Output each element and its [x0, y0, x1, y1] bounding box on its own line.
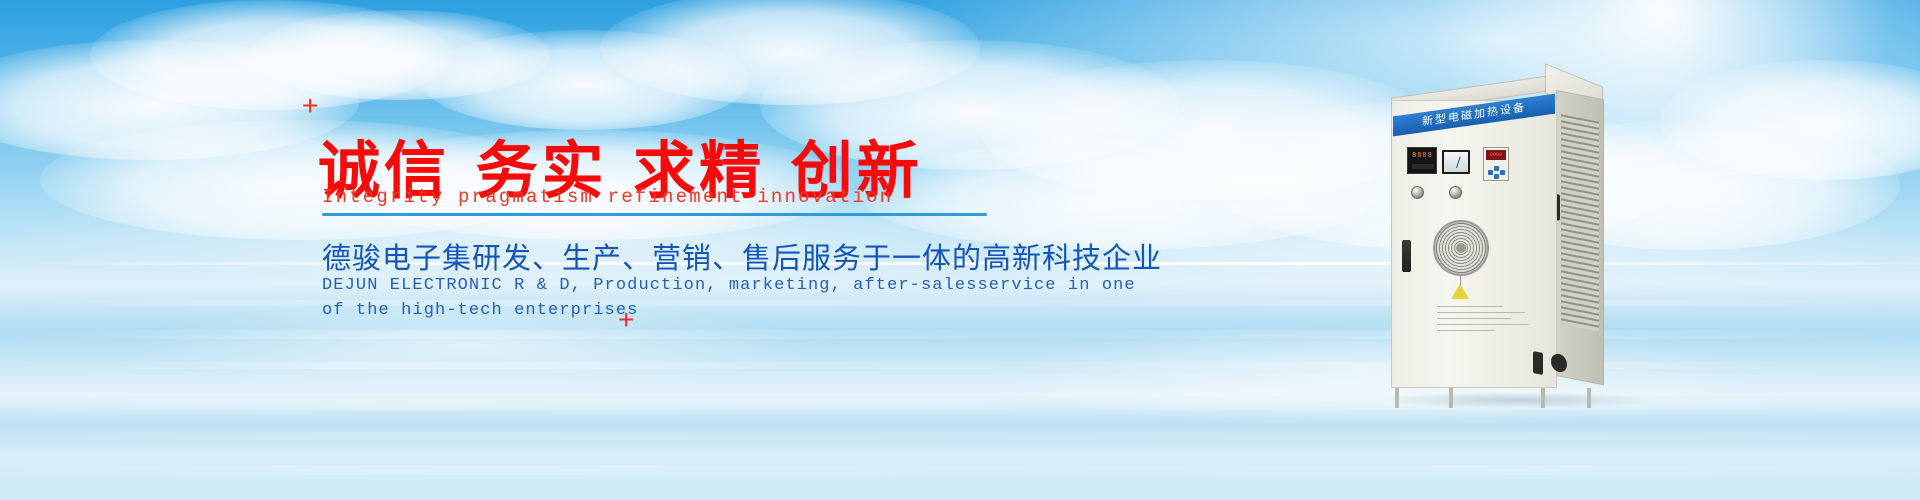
machine-legs	[1391, 386, 1605, 408]
plus-mark-icon: +	[302, 92, 318, 120]
analog-ammeter	[1442, 150, 1470, 174]
cloud-decoration	[980, 60, 1440, 200]
sea-ripple	[0, 465, 1920, 475]
spec-placard	[1437, 306, 1531, 336]
cloud-decoration	[860, 140, 1380, 250]
cloud-decoration	[250, 10, 550, 100]
warning-triangle-icon	[1451, 284, 1469, 299]
keypad-readout: 0000	[1486, 150, 1506, 160]
subheadline-english-line-2: of the high-tech enterprises	[322, 301, 638, 320]
hero-banner: + + 诚信 务实 求精 创新 Integrity pragmatism ref…	[0, 0, 1920, 500]
subheadline-chinese: 德骏电子集研发、生产、营销、售后服务于一体的高新科技企业	[322, 235, 1162, 277]
subheadline-english-line-1: DEJUN ELECTRONIC R & D, Production, mark…	[322, 276, 1136, 295]
cloud-decoration	[90, 0, 450, 110]
keypad-keys[interactable]	[1488, 166, 1506, 178]
divider-rule	[322, 213, 987, 216]
headline-english: Integrity pragmatism refinement innovati…	[322, 186, 893, 208]
cooling-fan-grille	[1433, 220, 1489, 276]
product-machine-image: 新型电磁加热设备 8888 0000	[1385, 62, 1645, 407]
machine-door-latch[interactable]	[1402, 240, 1411, 272]
cloud-decoration	[1660, 60, 1920, 180]
temperature-controller[interactable]: 8888	[1407, 147, 1437, 174]
selector-knob[interactable]	[1411, 186, 1424, 199]
machine-side-vents	[1561, 114, 1599, 331]
sea-ripple	[0, 432, 1920, 440]
cloud-decoration	[420, 30, 750, 130]
machine-bottom-port	[1533, 351, 1543, 375]
cloud-decoration	[600, 0, 980, 105]
digital-keypad-module[interactable]: 0000	[1483, 147, 1509, 181]
controller-readout: 8888	[1412, 152, 1433, 160]
keypad-display: 0000	[1486, 150, 1506, 160]
adjust-knob[interactable]	[1449, 186, 1462, 199]
sea-glare	[1000, 320, 1760, 430]
